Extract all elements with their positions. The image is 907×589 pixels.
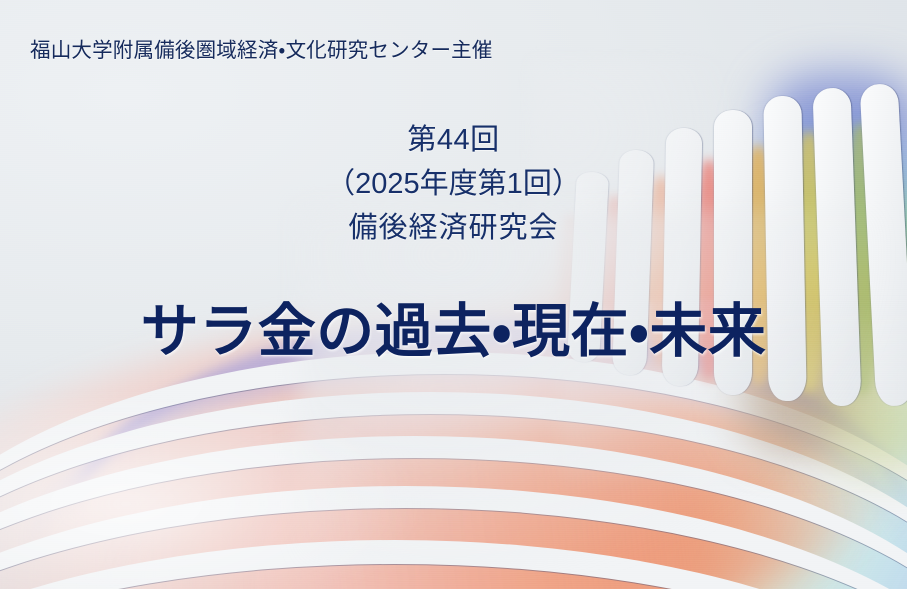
session-heading: 第44回 （2025年度第1回） 備後経済研究会 xyxy=(0,118,907,250)
session-number-line: 第44回 xyxy=(0,118,907,162)
session-group-name-line: 備後経済研究会 xyxy=(0,206,907,250)
page-title: サラ金の過去・現在・未来 xyxy=(0,292,907,372)
host-organization-line: 福山大学附属備後圏域経済・文化研究センター主催 xyxy=(30,38,493,64)
presentation-slide: 福山大学附属備後圏域経済・文化研究センター主催 第44回 （2025年度第1回）… xyxy=(0,0,907,589)
text-layer: 福山大学附属備後圏域経済・文化研究センター主催 第44回 （2025年度第1回）… xyxy=(0,0,907,589)
session-fiscal-year-line: （2025年度第1回） xyxy=(0,162,907,206)
